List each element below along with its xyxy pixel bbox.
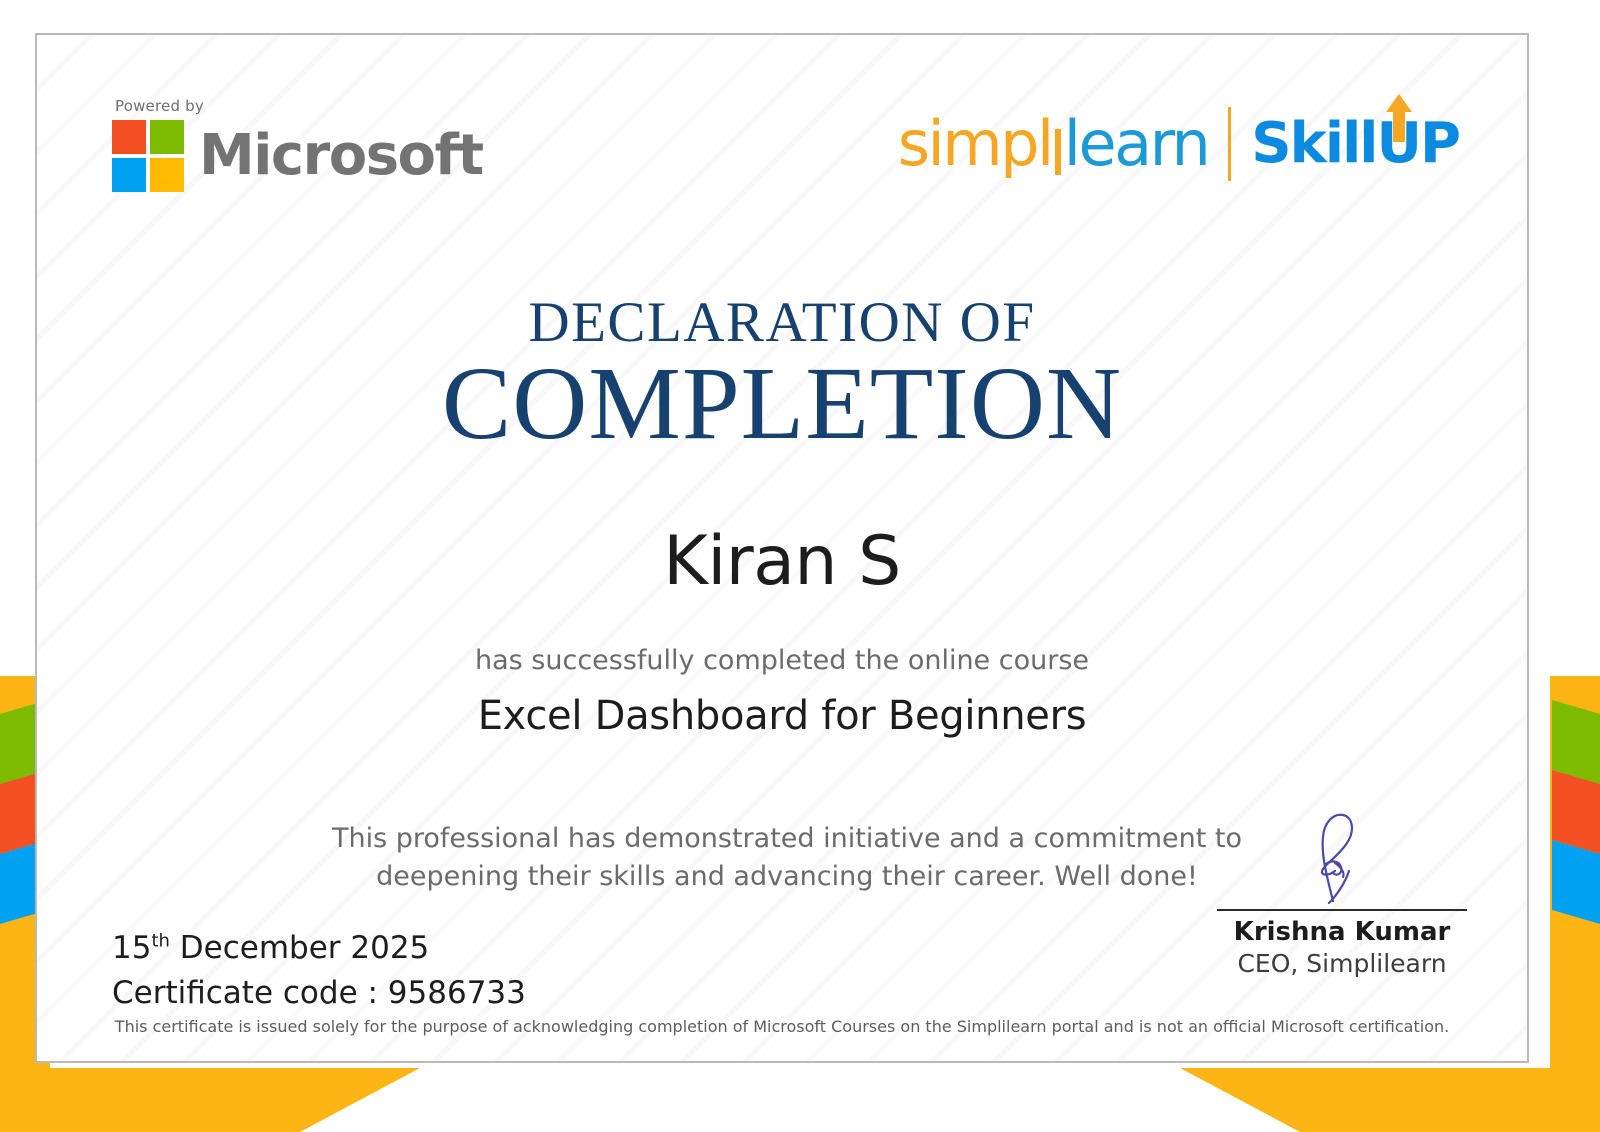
microsoft-wordmark: Microsoft xyxy=(199,128,483,184)
title-line-completion: COMPLETION xyxy=(37,349,1527,458)
edge-band-blue-right xyxy=(1542,840,1600,924)
certificate-code-value: 9586733 xyxy=(388,975,526,1011)
simplilearn-wordmark-simpli: simpl xyxy=(898,107,1052,180)
microsoft-logo-row: Microsoft xyxy=(112,120,483,192)
powered-by-label: Powered by xyxy=(115,97,483,115)
recipient-name: Kiran S xyxy=(37,522,1527,601)
edge-band-green-right xyxy=(1542,700,1600,784)
microsoft-square-yellow xyxy=(150,158,184,192)
signature-rule xyxy=(1217,909,1467,911)
certificate-page: Powered by Microsoft simpllearn xyxy=(0,0,1600,1132)
microsoft-square-green xyxy=(150,120,184,154)
certificate-title: DECLARATION OF COMPLETION xyxy=(37,293,1527,458)
certificate-code: Certificate code : 9586733 xyxy=(112,975,526,1011)
signature-block: Krishna Kumar CEO, Simplilearn xyxy=(1217,805,1467,978)
issue-date-ordinal: th xyxy=(151,931,169,952)
signatory-name: Krishna Kumar xyxy=(1217,917,1467,947)
signatory-role: CEO, Simplilearn xyxy=(1217,949,1467,978)
issue-date: 15th December 2025 xyxy=(112,930,429,966)
course-name: Excel Dashboard for Beginners xyxy=(37,693,1527,739)
skillup-wordmark-skill: Skill xyxy=(1251,111,1376,176)
microsoft-logo-block: Powered by Microsoft xyxy=(112,97,483,192)
logo-divider xyxy=(1228,107,1231,181)
skillup-wordmark-u-group: U xyxy=(1376,116,1419,172)
body-paragraph: This professional has demonstrated initi… xyxy=(327,820,1247,897)
simplilearn-skillup-logo: simpllearn SkillUP xyxy=(898,107,1459,181)
issue-date-day: 15 xyxy=(112,930,151,966)
microsoft-square-blue xyxy=(112,158,146,192)
simplilearn-i-bar-icon xyxy=(1055,129,1061,175)
certificate-code-label: Certificate code : xyxy=(112,975,388,1011)
up-arrow-icon xyxy=(1382,92,1416,148)
simplilearn-wordmark: simpllearn xyxy=(898,113,1209,175)
edge-band-red-right xyxy=(1542,770,1600,854)
disclaimer-text: This certificate is issued solely for th… xyxy=(37,1017,1527,1036)
microsoft-square-red xyxy=(112,120,146,154)
issue-date-rest: December 2025 xyxy=(170,930,429,966)
skillup-wordmark: SkillUP xyxy=(1251,116,1459,172)
signature-icon xyxy=(1287,805,1397,915)
title-line-declaration-of: DECLARATION OF xyxy=(37,293,1527,353)
skillup-wordmark-p: P xyxy=(1420,111,1459,176)
simplilearn-wordmark-learn: learn xyxy=(1064,107,1209,180)
microsoft-squares-icon xyxy=(112,120,184,192)
course-intro-text: has successfully completed the online co… xyxy=(37,645,1527,676)
certificate-header: Powered by Microsoft simpllearn xyxy=(37,97,1527,217)
certificate-card: Powered by Microsoft simpllearn xyxy=(35,33,1529,1063)
